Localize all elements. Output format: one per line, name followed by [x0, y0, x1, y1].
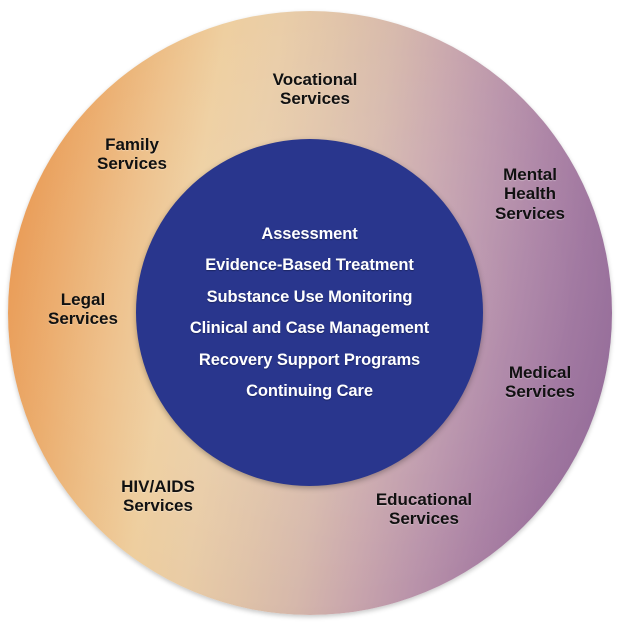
ring-label-medical-services: Medical Services — [470, 363, 610, 402]
core-item-evidence-based-treatment: Evidence-Based Treatment — [136, 250, 483, 282]
core-item-clinical-and-case-management: Clinical and Case Management — [136, 313, 483, 345]
ring-label-family-services: Family Services — [56, 135, 208, 174]
ring-label-mental-health-services: Mental Health Services — [460, 165, 600, 223]
core-item-continuing-care: Continuing Care — [136, 376, 483, 408]
core-item-substance-use-monitoring: Substance Use Monitoring — [136, 281, 483, 313]
core-item-assessment: Assessment — [136, 218, 483, 250]
ring-label-educational-services: Educational Services — [340, 490, 508, 529]
core-item-recovery-support-programs: Recovery Support Programs — [136, 344, 483, 376]
ring-label-vocational-services: Vocational Services — [232, 70, 398, 109]
services-circle-diagram: Assessment Evidence-Based Treatment Subs… — [0, 0, 623, 629]
ring-label-legal-services: Legal Services — [16, 290, 150, 329]
core-treatment-circle: Assessment Evidence-Based Treatment Subs… — [136, 139, 483, 486]
core-services-list: Assessment Evidence-Based Treatment Subs… — [136, 218, 483, 407]
ring-label-hiv-aids-services: HIV/AIDS Services — [76, 477, 240, 516]
